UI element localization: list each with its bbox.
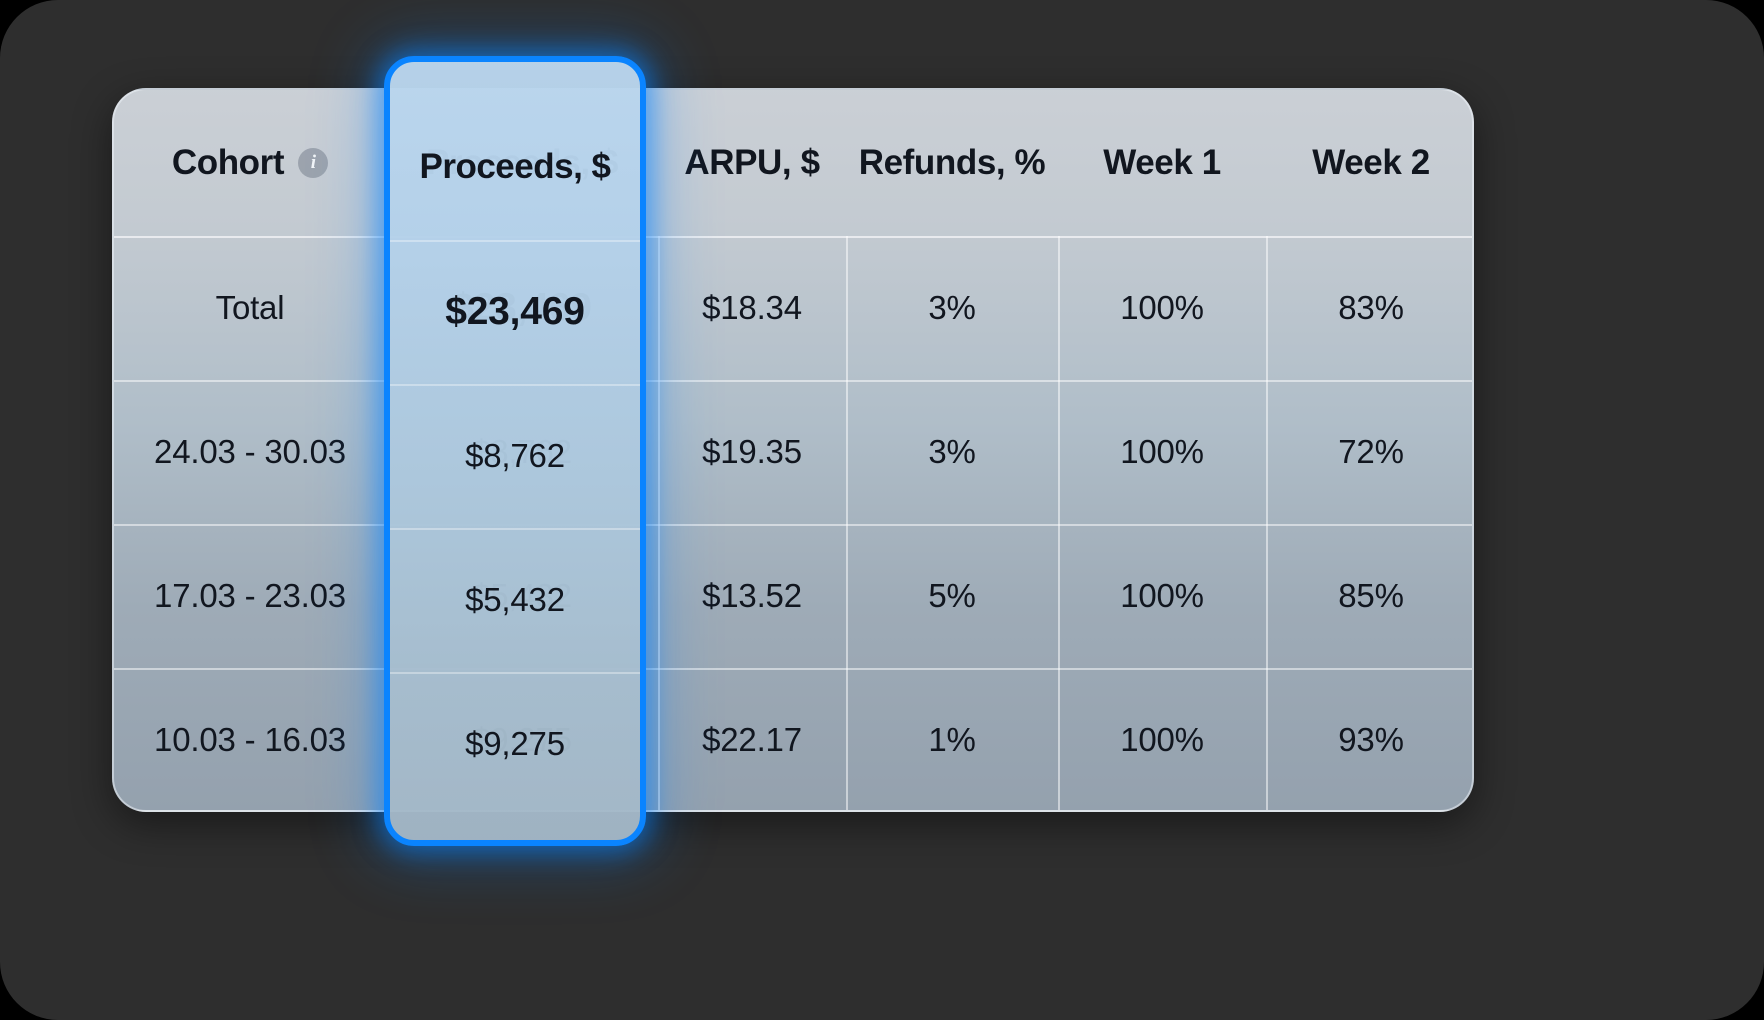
cell-cohort: 24.03 - 30.03 xyxy=(154,433,346,471)
selected-cell: $8,762 xyxy=(390,384,640,528)
selected-cell-value: $8,762 xyxy=(465,437,565,475)
cell-week1-value: 100% xyxy=(1120,577,1204,615)
cell-week1: 100% xyxy=(1058,668,1266,812)
cell-week2: 93% xyxy=(1266,668,1474,812)
cell-refunds-value: 3% xyxy=(928,433,975,471)
cell-arpu: $18.34 xyxy=(658,236,846,380)
cell-week1: 100% xyxy=(1058,380,1266,524)
selected-cell-value: $5,432 xyxy=(465,581,565,619)
cell-arpu-value: $13.52 xyxy=(702,577,802,615)
cell-refunds-value: 3% xyxy=(928,289,975,327)
selected-cell-value: $9,275 xyxy=(465,725,565,763)
selected-column-header-label: Proceeds, $ xyxy=(420,147,611,187)
cohort-table-grid: Cohort i Proceeds, $ ARPU, $ Refunds, % … xyxy=(114,90,1472,810)
cell-arpu: $22.17 xyxy=(658,668,846,812)
column-header-week2[interactable]: Week 2 xyxy=(1266,90,1474,236)
cell-refunds-value: 5% xyxy=(928,577,975,615)
info-icon[interactable]: i xyxy=(298,148,328,178)
cell-week2: 83% xyxy=(1266,236,1474,380)
cell-refunds: 3% xyxy=(846,380,1058,524)
cell-cohort: 10.03 - 16.03 xyxy=(154,721,346,759)
cell-week2: 85% xyxy=(1266,524,1474,668)
column-header-week1-label: Week 1 xyxy=(1103,143,1221,183)
cell-week2-value: 85% xyxy=(1338,577,1403,615)
cell-refunds: 1% xyxy=(846,668,1058,812)
cell-refunds-value: 1% xyxy=(928,721,975,759)
column-header-week1[interactable]: Week 1 xyxy=(1058,90,1266,236)
cell-week1: 100% xyxy=(1058,524,1266,668)
column-header-refunds[interactable]: Refunds, % xyxy=(846,90,1058,236)
cell-arpu-value: $22.17 xyxy=(702,721,802,759)
column-header-arpu[interactable]: ARPU, $ xyxy=(658,90,846,236)
cell-arpu: $13.52 xyxy=(658,524,846,668)
app-canvas: Cohort i Proceeds, $ ARPU, $ Refunds, % … xyxy=(0,0,1764,1020)
table-row: Total xyxy=(114,236,386,380)
selected-cell-total: $23,469 xyxy=(390,240,640,384)
cell-week1: 100% xyxy=(1058,236,1266,380)
table-row: 24.03 - 30.03 xyxy=(114,380,386,524)
cell-week1-value: 100% xyxy=(1120,433,1204,471)
table-row: 10.03 - 16.03 xyxy=(114,668,386,812)
cell-week2-value: 93% xyxy=(1338,721,1403,759)
column-header-arpu-label: ARPU, $ xyxy=(684,143,819,183)
cell-arpu-value: $19.35 xyxy=(702,433,802,471)
cell-cohort: Total xyxy=(216,289,285,327)
selected-column-proceeds[interactable]: Proceeds, $ $23,469 $8,762 $5,432 $9,275 xyxy=(384,56,646,846)
selected-cell: $5,432 xyxy=(390,528,640,672)
column-header-refunds-label: Refunds, % xyxy=(859,143,1046,183)
cell-refunds: 3% xyxy=(846,236,1058,380)
selected-column-header[interactable]: Proceeds, $ xyxy=(390,94,640,240)
cell-week1-value: 100% xyxy=(1120,721,1204,759)
cell-week2: 72% xyxy=(1266,380,1474,524)
selected-cell-value: $23,469 xyxy=(445,290,585,334)
column-header-cohort[interactable]: Cohort i xyxy=(114,90,386,236)
cell-week1-value: 100% xyxy=(1120,289,1204,327)
cell-week2-value: 72% xyxy=(1338,433,1403,471)
selected-column-cells: Proceeds, $ $23,469 $8,762 $5,432 $9,275 xyxy=(390,94,640,816)
cell-refunds: 5% xyxy=(846,524,1058,668)
selected-cell: $9,275 xyxy=(390,672,640,816)
column-header-cohort-label: Cohort xyxy=(172,143,284,183)
cell-cohort: 17.03 - 23.03 xyxy=(154,577,346,615)
cohort-table-card: Cohort i Proceeds, $ ARPU, $ Refunds, % … xyxy=(112,88,1474,812)
cell-week2-value: 83% xyxy=(1338,289,1403,327)
cell-arpu: $19.35 xyxy=(658,380,846,524)
cell-arpu-value: $18.34 xyxy=(702,289,802,327)
column-header-week2-label: Week 2 xyxy=(1312,143,1430,183)
table-row: 17.03 - 23.03 xyxy=(114,524,386,668)
screenshot-stage: Cohort i Proceeds, $ ARPU, $ Refunds, % … xyxy=(0,0,1764,1020)
